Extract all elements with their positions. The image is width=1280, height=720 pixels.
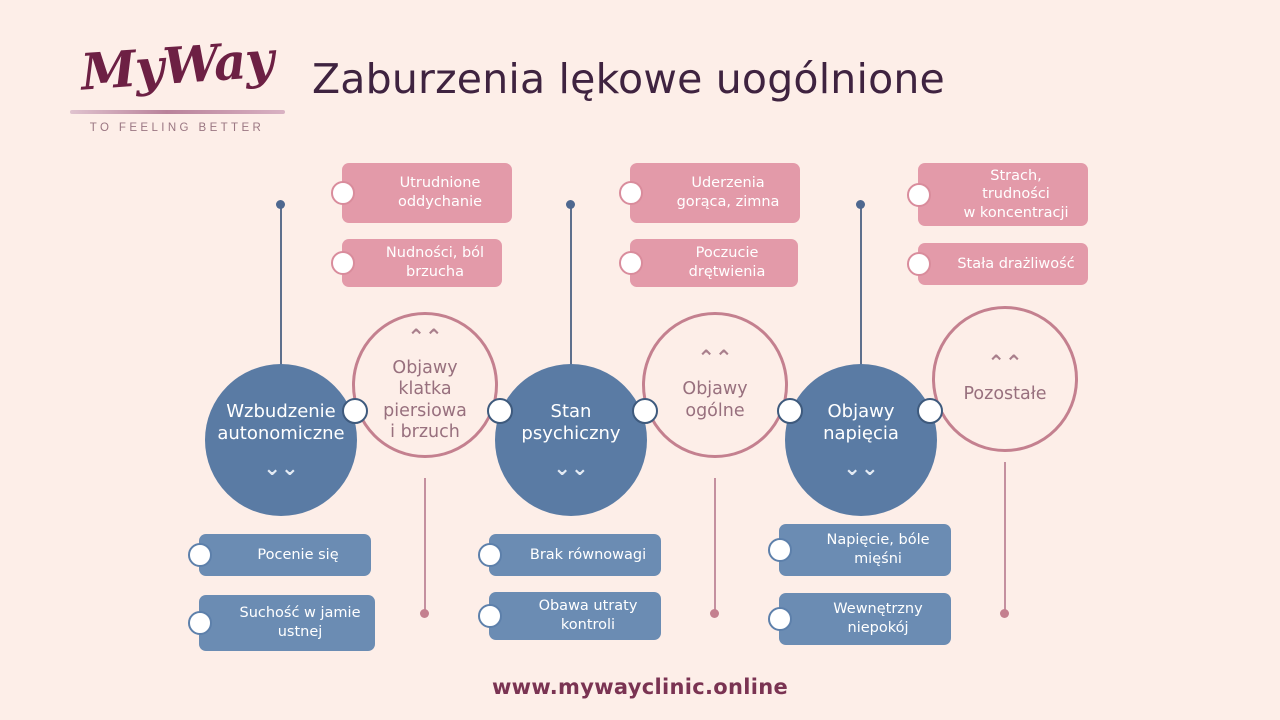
chip-label: Uderzenia gorąca, zimna (668, 174, 788, 211)
node-label: Stan psychiczny (521, 401, 620, 445)
node-label: Objawy napięcia (823, 401, 899, 445)
node-wzbudzenie-autonomiczne[interactable]: Wzbudzenie autonomiczne ⌄⌄ (205, 364, 357, 516)
connector-stem-bottom-3 (1004, 462, 1006, 614)
chip-bullet-icon (188, 611, 212, 635)
chip-bullet-icon (907, 252, 931, 276)
chevron-up-icon: ⌃⌃ (407, 327, 442, 348)
joint-dot-1 (342, 398, 368, 424)
node-objawy-ogolne[interactable]: ⌃⌃ Objawy ogólne (642, 312, 788, 458)
chip-obawa-utraty-kontroli[interactable]: Obawa utraty kontroli (489, 592, 661, 640)
footer-website-url[interactable]: www.mywayclinic.online (0, 675, 1280, 699)
chip-label: Utrudnione oddychanie (380, 174, 500, 211)
chip-label: Suchość w jamie ustnej (237, 604, 363, 641)
chip-napiecie-bole-miesni[interactable]: Napięcie, bóle mięśni (779, 524, 951, 576)
chip-label: Poczucie drętwienia (668, 244, 786, 281)
connector-stem-top-1 (280, 205, 282, 385)
joint-dot-2 (487, 398, 513, 424)
connector-tip-top-2 (566, 200, 575, 209)
chip-label: Nudności, ból brzucha (380, 244, 490, 281)
chip-label: Strach, trudności w koncentracji (956, 167, 1076, 223)
chip-label: Napięcie, bóle mięśni (817, 531, 939, 568)
connector-stem-top-3 (860, 205, 862, 385)
chip-label: Wewnętrzny niepokój (817, 600, 939, 637)
logo-wordmark: MyWay (59, 18, 294, 114)
connector-tip-bottom-1 (420, 609, 429, 618)
chip-bullet-icon (619, 181, 643, 205)
chip-bullet-icon (768, 538, 792, 562)
chip-poczucie-dretwienia[interactable]: Poczucie drętwienia (630, 239, 798, 287)
connector-tip-bottom-2 (710, 609, 719, 618)
chevron-up-icon: ⌃⌃ (987, 353, 1022, 374)
chip-label: Obawa utraty kontroli (527, 597, 649, 634)
chip-bullet-icon (478, 543, 502, 567)
chevron-down-icon: ⌄⌄ (843, 458, 878, 479)
node-label: Objawy ogólne (682, 379, 747, 422)
page-title: Zaburzenia lękowe uogólnione (312, 55, 945, 103)
chip-nudnosci-bol-brzucha[interactable]: Nudności, ból brzucha (342, 239, 502, 287)
chip-bullet-icon (331, 181, 355, 205)
chip-bullet-icon (768, 607, 792, 631)
chip-uderzenia-goraca-zimna[interactable]: Uderzenia gorąca, zimna (630, 163, 800, 223)
chip-strach-trudnosci-w-koncentracji[interactable]: Strach, trudności w koncentracji (918, 163, 1088, 226)
connector-stem-bottom-2 (714, 478, 716, 614)
joint-dot-5 (917, 398, 943, 424)
chevron-down-icon: ⌄⌄ (263, 458, 298, 479)
brand-logo: MyWay TO FEELING BETTER (62, 26, 292, 142)
connector-tip-bottom-3 (1000, 609, 1009, 618)
chip-wewnetrzny-niepokoj[interactable]: Wewnętrzny niepokój (779, 593, 951, 645)
chip-bullet-icon (907, 183, 931, 207)
node-pozostale[interactable]: ⌃⌃ Pozostałe (932, 306, 1078, 452)
connector-stem-bottom-1 (424, 478, 426, 614)
chip-brak-rownowagi[interactable]: Brak równowagi (489, 534, 661, 576)
chip-label: Stała drażliwość (956, 255, 1076, 274)
chip-utrudnione-oddychanie[interactable]: Utrudnione oddychanie (342, 163, 512, 223)
node-objawy-klatka-piersiowa-i-brzuch[interactable]: ⌃⌃ Objawy klatka piersiowa i brzuch (352, 312, 498, 458)
chip-pocenie-sie[interactable]: Pocenie się (199, 534, 371, 576)
joint-dot-3 (632, 398, 658, 424)
chip-bullet-icon (188, 543, 212, 567)
node-stan-psychiczny[interactable]: Stan psychiczny ⌄⌄ (495, 364, 647, 516)
chevron-up-icon: ⌃⌃ (697, 348, 732, 369)
chevron-down-icon: ⌄⌄ (553, 458, 588, 479)
node-label: Wzbudzenie autonomiczne (217, 401, 344, 445)
connector-tip-top-3 (856, 200, 865, 209)
chip-stala-drazliwosc[interactable]: Stała drażliwość (918, 243, 1088, 285)
node-label: Pozostałe (964, 384, 1047, 405)
chip-bullet-icon (478, 604, 502, 628)
chip-bullet-icon (331, 251, 355, 275)
connector-tip-top-1 (276, 200, 285, 209)
chip-suchosc-w-jamie-ustnej[interactable]: Suchość w jamie ustnej (199, 595, 375, 651)
logo-tagline: TO FEELING BETTER (62, 122, 292, 134)
node-label: Objawy klatka piersiowa i brzuch (383, 358, 467, 443)
node-objawy-napiecia[interactable]: Objawy napięcia ⌄⌄ (785, 364, 937, 516)
chip-label: Brak równowagi (527, 546, 649, 565)
logo-underline-decoration (70, 110, 285, 114)
chip-bullet-icon (619, 251, 643, 275)
joint-dot-4 (777, 398, 803, 424)
infographic-canvas: MyWay TO FEELING BETTER Zaburzenia lękow… (0, 0, 1280, 720)
connector-stem-top-2 (570, 205, 572, 385)
chip-label: Pocenie się (237, 546, 359, 565)
